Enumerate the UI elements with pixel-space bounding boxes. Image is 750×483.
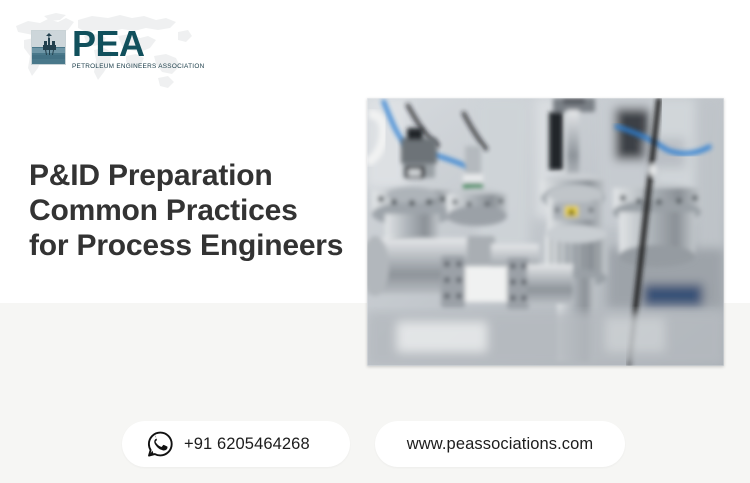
website-pill[interactable]: www.peassociations.com bbox=[375, 421, 625, 467]
offshore-oil-rig-icon bbox=[31, 30, 66, 65]
page-title: P&ID Preparation Common Practices for Pr… bbox=[29, 158, 369, 263]
industrial-process-piping-photo bbox=[367, 98, 724, 366]
headline-line-1: P&ID Preparation bbox=[29, 158, 369, 193]
contact-bar: +91 6205464268 www.peassociations.com bbox=[0, 421, 750, 468]
phone-pill[interactable]: +91 6205464268 bbox=[122, 421, 350, 467]
phone-number: +91 6205464268 bbox=[184, 435, 310, 454]
whatsapp-icon bbox=[147, 431, 173, 457]
headline-line-2: Common Practices bbox=[29, 193, 369, 228]
promo-banner: PEA PETROLEUM ENGINEERS ASSOCIATION P&ID… bbox=[0, 0, 750, 483]
headline-line-3: for Process Engineers bbox=[29, 228, 369, 263]
brand-tagline: PETROLEUM ENGINEERS ASSOCIATION bbox=[72, 63, 205, 70]
brand-logo[interactable]: PEA PETROLEUM ENGINEERS ASSOCIATION bbox=[31, 30, 205, 70]
website-url: www.peassociations.com bbox=[407, 435, 594, 454]
brand-acronym: PEA bbox=[72, 28, 205, 60]
